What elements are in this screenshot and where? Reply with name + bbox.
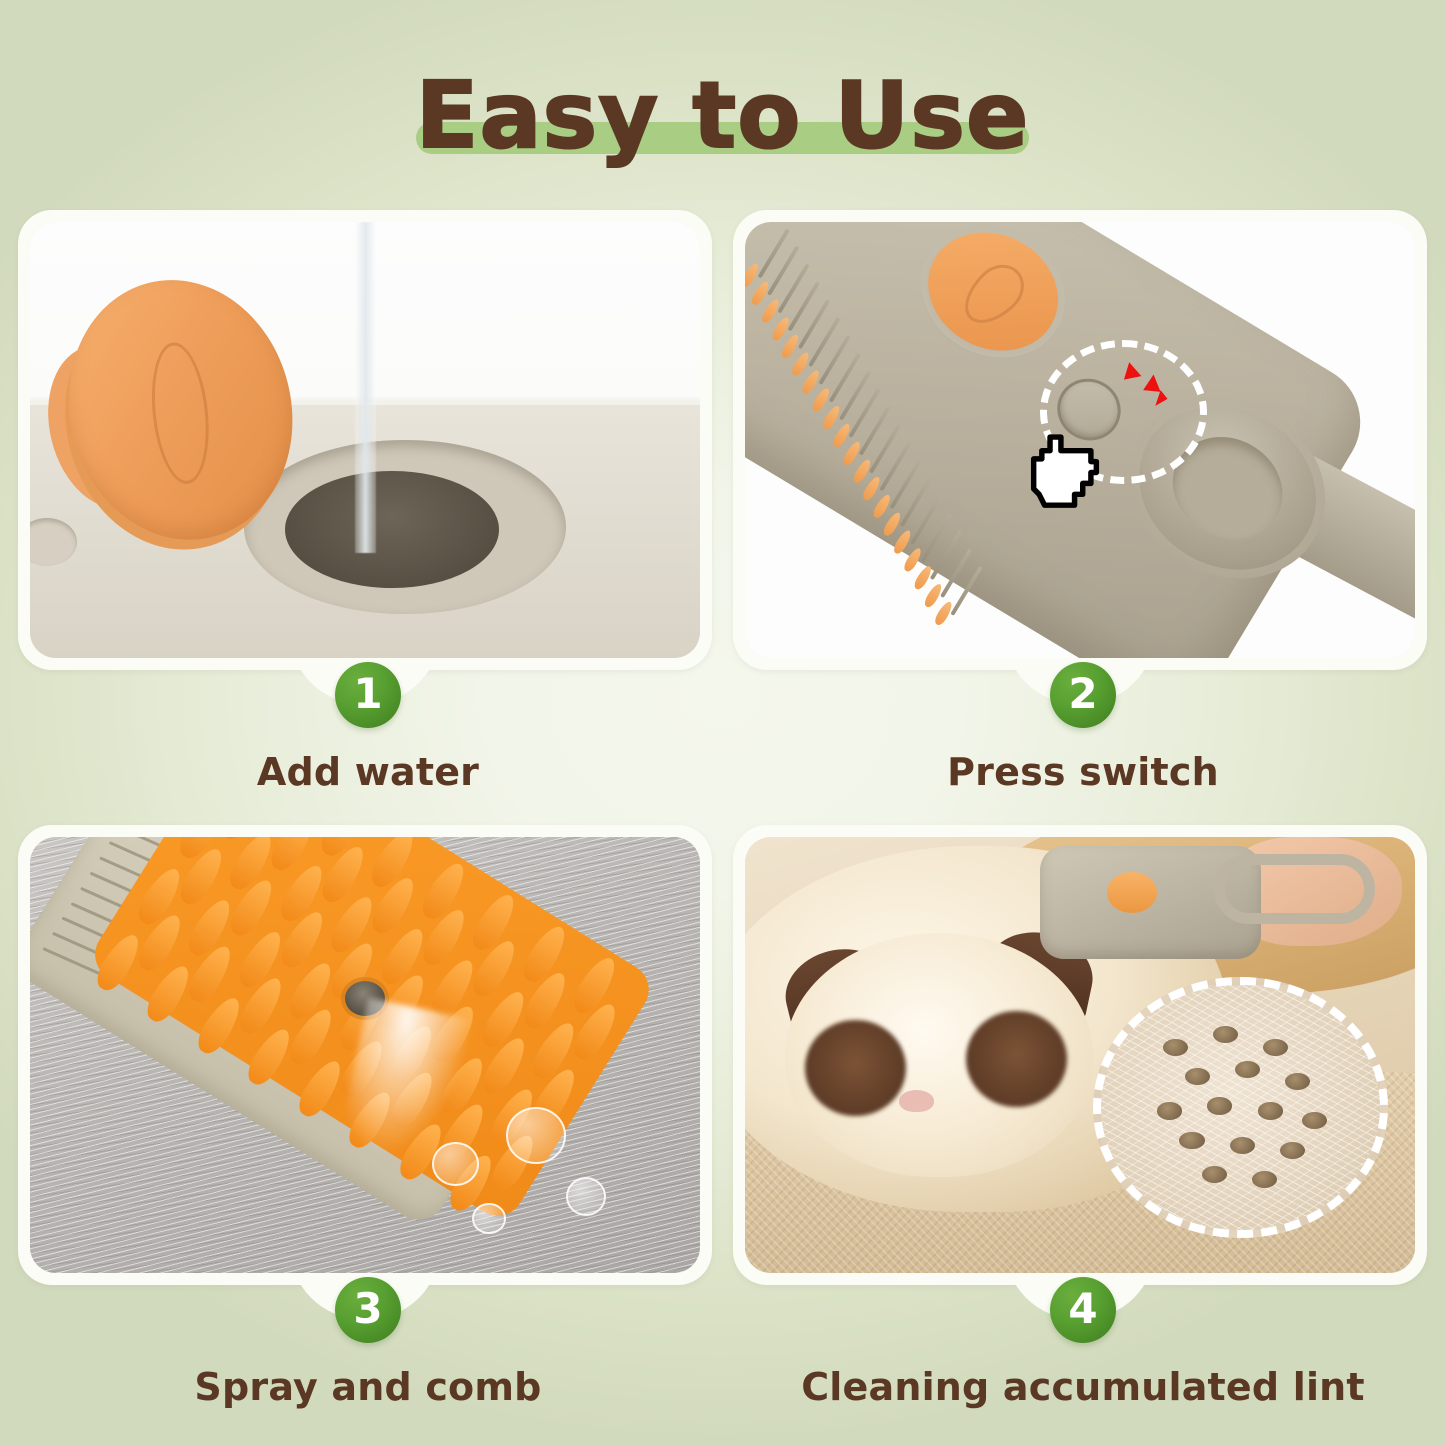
lint-closeup-circle <box>1093 977 1388 1239</box>
step-badge-1: 1 <box>335 662 401 728</box>
hand-cursor-icon <box>1000 418 1127 527</box>
step-badge-2: 2 <box>1050 662 1116 728</box>
step-card-frame-2 <box>733 210 1427 670</box>
steps-grid: 1 Add water <box>0 210 1445 1445</box>
infographic-page: Easy to Use <box>0 0 1445 1445</box>
step-number-1: 1 <box>353 673 382 715</box>
page-title-text: Easy to Use <box>416 64 1030 167</box>
step-number-2: 2 <box>1068 673 1097 715</box>
step-card-2: 2 Press switch <box>733 210 1433 822</box>
step-card-frame-3 <box>18 825 712 1285</box>
step-caption-4: Cleaning accumulated lint <box>733 1365 1433 1409</box>
page-title: Easy to Use <box>0 56 1445 176</box>
step-card-frame-4 <box>733 825 1427 1285</box>
brush-power-button <box>1107 872 1157 913</box>
step-photo-2 <box>745 222 1415 658</box>
step-badge-3: 3 <box>335 1277 401 1343</box>
water-stream <box>355 222 376 553</box>
step-card-4: 4 Cleaning accumulated lint <box>733 825 1433 1437</box>
step-card-3: 3 Spray and comb <box>18 825 718 1437</box>
step-card-frame-1 <box>18 210 712 670</box>
step-caption-3: Spray and comb <box>18 1365 718 1409</box>
step-caption-1: Add water <box>18 750 718 794</box>
step-caption-2: Press switch <box>733 750 1433 794</box>
step-number-4: 4 <box>1068 1288 1097 1330</box>
step-photo-3 <box>30 837 700 1273</box>
step-number-3: 3 <box>353 1288 382 1330</box>
step-card-1: 1 Add water <box>18 210 718 822</box>
step-photo-4 <box>745 837 1415 1273</box>
step-badge-4: 4 <box>1050 1277 1116 1343</box>
step-photo-1 <box>30 222 700 658</box>
